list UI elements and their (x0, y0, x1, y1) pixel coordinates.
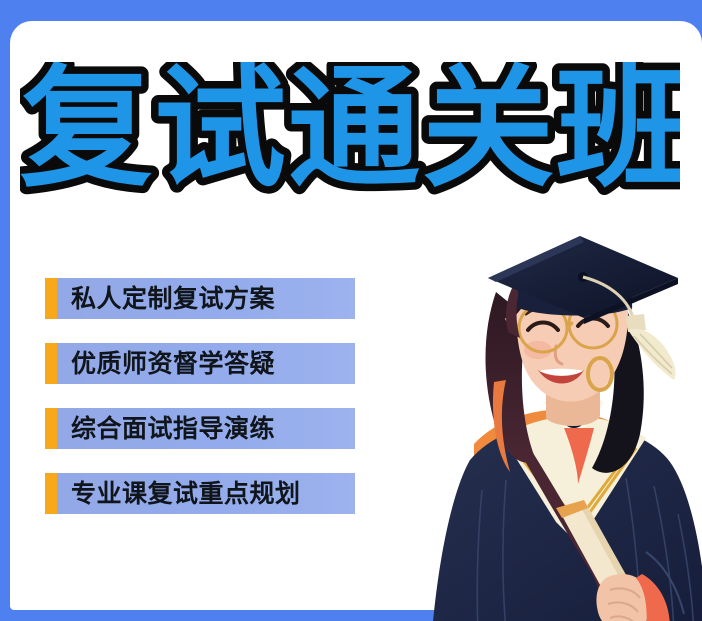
feature-label: 专业课复试重点规划 (57, 473, 355, 514)
feature-item[interactable]: 优质师资督学答疑 (45, 343, 355, 384)
feature-list: 私人定制复试方案 优质师资督学答疑 综合面试指导演练 专业课复试重点规划 (45, 278, 355, 538)
feature-accent-bar (45, 343, 57, 384)
feature-item[interactable]: 私人定制复试方案 (45, 278, 355, 319)
feature-accent-bar (45, 473, 57, 514)
feature-item[interactable]: 专业课复试重点规划 (45, 473, 355, 514)
feature-accent-bar (45, 278, 57, 319)
feature-label: 综合面试指导演练 (57, 408, 355, 449)
graduate-student-illustration (378, 222, 702, 621)
feature-item[interactable]: 综合面试指导演练 (45, 408, 355, 449)
feature-label: 优质师资督学答疑 (57, 343, 355, 384)
feature-label: 私人定制复试方案 (57, 278, 355, 319)
poster-canvas: 复试通关班 复试通关班 私人定制复试方案 优质师资督学答疑 综合面试指导演练 专… (0, 0, 702, 621)
feature-accent-bar (45, 408, 57, 449)
